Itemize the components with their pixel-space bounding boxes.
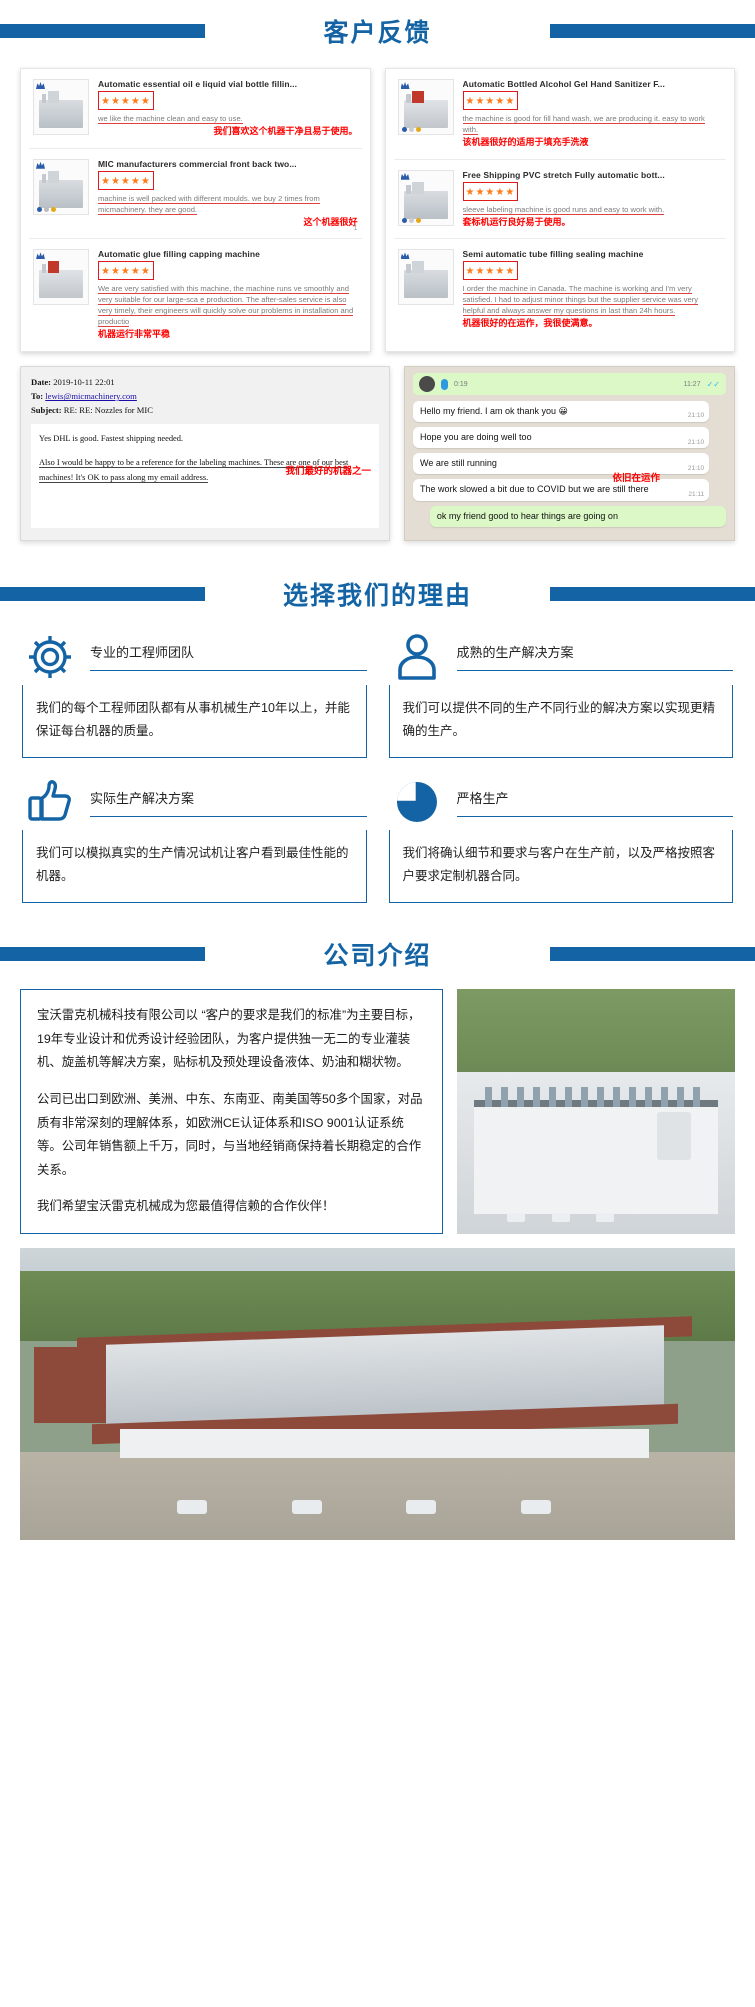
color-dots bbox=[37, 207, 56, 212]
chat-text: We are still running bbox=[420, 458, 497, 468]
section-title-feedback: 客户反馈 bbox=[297, 13, 457, 49]
header-bar-left bbox=[0, 587, 205, 601]
chat-time: 21:10 bbox=[688, 439, 704, 448]
why-item: 专业的工程师团队 我们的每个工程师团队都有从事机械生产10年以上，并能保证每台机… bbox=[22, 629, 367, 758]
why-item-title-wrap: 成熟的生产解决方案 bbox=[457, 642, 734, 671]
review-column-right: Automatic Bottled Alcohol Gel Hand Sanit… bbox=[385, 68, 736, 352]
review-text-en: we like the machine clean and easy to us… bbox=[98, 113, 358, 124]
review-item[interactable]: Free Shipping PVC stretch Fully automati… bbox=[394, 160, 727, 240]
why-item-header: 实际生产解决方案 bbox=[22, 774, 367, 830]
review-title[interactable]: MIC manufacturers commercial front back … bbox=[98, 159, 358, 169]
why-item-title-wrap: 专业的工程师团队 bbox=[90, 642, 367, 671]
pie-chart-icon bbox=[389, 774, 445, 830]
email-subject-row: Subject: RE: RE: Nozzles for MIC bbox=[31, 403, 379, 417]
review-text-cn: 机器运行非常平稳 bbox=[98, 329, 358, 341]
factory-photo-small bbox=[457, 989, 735, 1234]
review-text-cn: 这个机器很好 bbox=[98, 217, 358, 229]
review-thumbnail bbox=[398, 249, 454, 305]
chat-text: ok my friend good to hear things are goi… bbox=[437, 511, 618, 521]
review-thumbnail bbox=[398, 170, 454, 226]
why-item: 成熟的生产解决方案 我们可以提供不同的生产不同行业的解决方案以实现更精确的生产。 bbox=[389, 629, 734, 758]
machine-photo bbox=[39, 270, 83, 298]
review-text-en: machine is well packed with different mo… bbox=[98, 193, 358, 215]
machine-photo bbox=[39, 180, 83, 208]
email-date-value: 2019-10-11 22:01 bbox=[53, 377, 115, 387]
read-receipt-icon: ✓✓ bbox=[707, 380, 720, 389]
chat-time: 21:10 bbox=[688, 465, 704, 474]
email-date-label: Date: bbox=[31, 377, 51, 387]
brand-badge-icon bbox=[401, 252, 410, 259]
header-bar-right bbox=[550, 24, 755, 38]
email-to-label: To: bbox=[31, 391, 43, 401]
chat-bubble: Hello my friend. I am ok thank you 😀 21:… bbox=[413, 401, 709, 422]
review-body: Automatic essential oil e liquid vial bo… bbox=[98, 79, 358, 138]
color-dots bbox=[402, 127, 421, 132]
rating-stars: ★★★★★ bbox=[98, 91, 154, 110]
why-item-title-wrap: 严格生产 bbox=[457, 788, 734, 817]
chat-time: 21:11 bbox=[688, 491, 704, 500]
review-thumbnail bbox=[33, 79, 89, 135]
why-item-title: 成熟的生产解决方案 bbox=[457, 645, 574, 660]
chat-text: Hope you are doing well too bbox=[420, 432, 532, 442]
chat-time: 21:10 bbox=[688, 412, 704, 421]
review-body: Automatic glue filling capping machine ★… bbox=[98, 249, 358, 341]
why-item-header: 严格生产 bbox=[389, 774, 734, 830]
review-text-cn: 我们喜欢这个机器干净且易于使用。 bbox=[98, 126, 358, 138]
review-body: Semi automatic tube filling sealing mach… bbox=[463, 249, 723, 330]
review-title[interactable]: Free Shipping PVC stretch Fully automati… bbox=[463, 170, 723, 180]
brand-badge-icon bbox=[401, 173, 410, 180]
review-text-en: sleeve labeling machine is good runs and… bbox=[463, 204, 723, 215]
rating-stars: ★★★★★ bbox=[463, 261, 519, 280]
rating-stars: ★★★★★ bbox=[463, 91, 519, 110]
review-item[interactable]: Automatic Bottled Alcohol Gel Hand Sanit… bbox=[394, 69, 727, 160]
machine-photo bbox=[404, 100, 448, 128]
chat-text: The work slowed a bit due to COVID but w… bbox=[420, 484, 649, 494]
review-thumbnail bbox=[398, 79, 454, 135]
section-title-why: 选择我们的理由 bbox=[257, 576, 498, 612]
why-item-header: 成熟的生产解决方案 bbox=[389, 629, 734, 685]
machine-photo bbox=[404, 270, 448, 298]
brand-badge-icon bbox=[36, 82, 45, 89]
why-item-title: 专业的工程师团队 bbox=[90, 645, 194, 660]
color-dots bbox=[402, 218, 421, 223]
rating-stars: ★★★★★ bbox=[463, 182, 519, 201]
person-icon bbox=[389, 629, 445, 685]
review-item[interactable]: Automatic essential oil e liquid vial bo… bbox=[29, 69, 362, 149]
why-item-header: 专业的工程师团队 bbox=[22, 629, 367, 685]
brand-badge-icon bbox=[401, 82, 410, 89]
email-body: Yes DHL is good. Fastest shipping needed… bbox=[31, 424, 379, 528]
gear-icon bbox=[22, 629, 78, 685]
chat-bubble: We are still running 21:10 bbox=[413, 453, 709, 474]
whatsapp-screenshot: 0:19 11:27 ✓✓ Hello my friend. I am ok t… bbox=[404, 366, 735, 541]
company-paragraph: 公司已出口到欧洲、美洲、中东、东南亚、南美国等50多个国家，对品质有非常深刻的理… bbox=[37, 1088, 428, 1182]
email-header: Date: 2019-10-11 22:01 To: lewis@micmach… bbox=[31, 375, 379, 418]
review-text-en: the machine is good for fill hand wash, … bbox=[463, 113, 723, 135]
header-bar-right bbox=[550, 947, 755, 961]
review-text-cn: 该机器很好的适用于填充手洗液 bbox=[463, 137, 723, 149]
review-thumbnail bbox=[33, 249, 89, 305]
email-subject-label: Subject: bbox=[31, 405, 62, 415]
header-bar-left bbox=[0, 947, 205, 961]
why-item-text: 我们的每个工程师团队都有从事机械生产10年以上，并能保证每台机器的质量。 bbox=[22, 685, 367, 758]
header-bar-left bbox=[0, 24, 205, 38]
email-subject-value: RE: RE: Nozzles for MIC bbox=[64, 405, 153, 415]
microphone-icon bbox=[441, 379, 448, 390]
review-text-cn: 机器很好的在运作，我很使满意。 bbox=[463, 318, 723, 330]
section-title-company: 公司介绍 bbox=[297, 936, 457, 972]
review-title[interactable]: Semi automatic tube filling sealing mach… bbox=[463, 249, 723, 259]
review-text-en: I order the machine in Canada. The machi… bbox=[463, 283, 723, 316]
review-thumbnail bbox=[33, 159, 89, 215]
header-bar-right bbox=[550, 587, 755, 601]
thumbs-up-icon bbox=[22, 774, 78, 830]
proof-container: Date: 2019-10-11 22:01 To: lewis@micmach… bbox=[0, 352, 755, 541]
email-date-row: Date: 2019-10-11 22:01 bbox=[31, 375, 379, 389]
review-item[interactable]: Semi automatic tube filling sealing mach… bbox=[394, 239, 727, 340]
company-intro: 宝沃雷克机械科技有限公司以 “客户的要求是我们的标准”为主要目标，19年专业设计… bbox=[0, 985, 755, 1234]
chat-bubble: ok my friend good to hear things are goi… bbox=[430, 506, 726, 527]
review-item[interactable]: MIC manufacturers commercial front back … bbox=[29, 149, 362, 240]
review-title[interactable]: Automatic Bottled Alcohol Gel Hand Sanit… bbox=[463, 79, 723, 89]
chat-bubble: The work slowed a bit due to COVID but w… bbox=[413, 479, 709, 500]
email-to-row: To: lewis@micmachinery.com bbox=[31, 389, 379, 403]
chat-text: Hello my friend. I am ok thank you 😀 bbox=[420, 406, 568, 416]
voice-duration: 0:19 bbox=[454, 381, 468, 388]
why-item-text: 我们可以模拟真实的生产情况试机让客户看到最佳性能的机器。 bbox=[22, 830, 367, 903]
machine-photo bbox=[39, 100, 83, 128]
why-item-text: 我们可以提供不同的生产不同行业的解决方案以实现更精确的生产。 bbox=[389, 685, 734, 758]
review-column-left: Automatic essential oil e liquid vial bo… bbox=[20, 68, 371, 352]
section-header-why: 选择我们的理由 bbox=[0, 563, 755, 625]
why-item: 严格生产 我们将确认细节和要求与客户在生产前，以及严格按照客户要求定制机器合同。 bbox=[389, 774, 734, 903]
product-detail-page: 客户反馈 Automatic essential oil e liquid vi… bbox=[0, 0, 755, 1558]
email-to-address[interactable]: lewis@micmachinery.com bbox=[45, 391, 137, 401]
why-grid: 专业的工程师团队 我们的每个工程师团队都有从事机械生产10年以上，并能保证每台机… bbox=[22, 629, 733, 904]
page-number: 1 bbox=[354, 225, 358, 232]
whatsapp-cn-note: 依旧在运作 bbox=[612, 470, 660, 484]
why-item-title: 实际生产解决方案 bbox=[90, 791, 194, 806]
section-header-company: 公司介绍 bbox=[0, 923, 755, 985]
company-text: 宝沃雷克机械科技有限公司以 “客户的要求是我们的标准”为主要目标，19年专业设计… bbox=[20, 989, 443, 1234]
why-item-text: 我们将确认细节和要求与客户在生产前，以及严格按照客户要求定制机器合同。 bbox=[389, 830, 734, 903]
company-row: 宝沃雷克机械科技有限公司以 “客户的要求是我们的标准”为主要目标，19年专业设计… bbox=[20, 989, 735, 1234]
why-item-title-wrap: 实际生产解决方案 bbox=[90, 788, 367, 817]
brand-badge-icon bbox=[36, 162, 45, 169]
email-body-line-1: Yes DHL is good. Fastest shipping needed… bbox=[39, 432, 371, 447]
why-item-title: 严格生产 bbox=[457, 791, 509, 806]
review-text-en: We are very satisfied with this machine,… bbox=[98, 283, 358, 327]
section-header-feedback: 客户反馈 bbox=[0, 0, 755, 62]
voice-message-row[interactable]: 0:19 11:27 ✓✓ bbox=[413, 373, 726, 395]
avatar bbox=[419, 376, 435, 392]
review-title[interactable]: Automatic essential oil e liquid vial bo… bbox=[98, 79, 358, 89]
brand-badge-icon bbox=[36, 252, 45, 259]
why-item: 实际生产解决方案 我们可以模拟真实的生产情况试机让客户看到最佳性能的机器。 bbox=[22, 774, 367, 903]
review-item[interactable]: Automatic glue filling capping machine ★… bbox=[29, 239, 362, 351]
review-body: MIC manufacturers commercial front back … bbox=[98, 159, 358, 229]
company-paragraph: 我们希望宝沃雷克机械成为您最值得信赖的合作伙伴！ bbox=[37, 1195, 428, 1219]
rating-stars: ★★★★★ bbox=[98, 261, 154, 280]
why-choose-us: 专业的工程师团队 我们的每个工程师团队都有从事机械生产10年以上，并能保证每台机… bbox=[0, 625, 755, 914]
company-paragraph: 宝沃雷克机械科技有限公司以 “客户的要求是我们的标准”为主要目标，19年专业设计… bbox=[37, 1004, 428, 1075]
review-body: Automatic Bottled Alcohol Gel Hand Sanit… bbox=[463, 79, 723, 149]
review-title[interactable]: Automatic glue filling capping machine bbox=[98, 249, 358, 259]
review-body: Free Shipping PVC stretch Fully automati… bbox=[463, 170, 723, 229]
reviews-container: Automatic essential oil e liquid vial bo… bbox=[0, 62, 755, 352]
email-cn-note: 我们最好的机器之一 bbox=[285, 464, 371, 481]
voice-timestamp: 11:27 bbox=[684, 381, 701, 388]
chat-bubble: Hope you are doing well too 21:10 bbox=[413, 427, 709, 448]
review-text-cn: 套标机运行良好易于使用。 bbox=[463, 217, 723, 229]
email-screenshot: Date: 2019-10-11 22:01 To: lewis@micmach… bbox=[20, 366, 390, 541]
machine-photo bbox=[404, 191, 448, 219]
rating-stars: ★★★★★ bbox=[98, 171, 154, 190]
factory-photo-large bbox=[20, 1248, 735, 1540]
